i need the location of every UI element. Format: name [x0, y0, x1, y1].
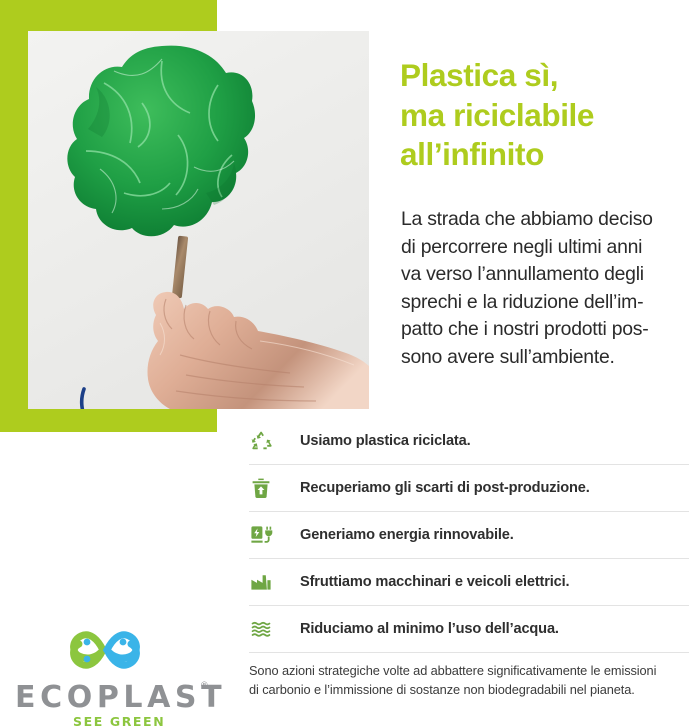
poster-canvas: ,plastica seconda vita Plastica sì, ma r… — [0, 0, 700, 728]
list-item: Riduciamo al minimo l’uso dell’acqua. — [249, 606, 689, 653]
list-item-label: Generiamo energia rinnovabile. — [283, 527, 514, 543]
headline-line-3: all’infinito — [400, 135, 696, 175]
ecoplast-tagline: SEE GREEN — [73, 714, 165, 728]
page-title: Plastica sì, ma riciclabile all’infinito — [400, 56, 696, 175]
footer-line-2: di carbonio e l’immissione di sostanze n… — [249, 681, 700, 700]
psv-circle-arc-icon — [61, 375, 193, 409]
sustainability-actions-list: Usiamo plastica riciclata. Recuperiamo g… — [249, 418, 689, 653]
psv-wordmark: ,plastica — [69, 405, 156, 409]
list-item-label: Usiamo plastica riciclata. — [283, 433, 471, 449]
lead-paragraph: La strada che abbiamo deciso di percorre… — [401, 206, 700, 371]
footer-line-1: Sono azioni strategiche volte ad abbatte… — [249, 662, 700, 681]
lead-line-4: sprechi e la riduzione dell’im- — [401, 289, 700, 317]
lead-line-2: di percorrere negli ultimi anni — [401, 234, 700, 262]
factory-icon — [249, 567, 283, 597]
list-item: Generiamo energia rinnovabile. — [249, 512, 689, 559]
plastic-bag-canopy-illustration — [66, 43, 259, 259]
headline-line-1: Plastica sì, — [400, 56, 696, 96]
hero-photo: ,plastica seconda vita — [28, 31, 369, 409]
ecoplast-wordmark: ECOPLAST — [15, 680, 226, 715]
water-waves-icon — [249, 614, 283, 644]
list-item-label: Riduciamo al minimo l’uso dell’acqua. — [283, 621, 559, 637]
lead-line-1: La strada che abbiamo deciso — [401, 206, 700, 234]
list-item: Usiamo plastica riciclata. — [249, 418, 689, 465]
list-item: Sfruttiamo macchinari e veicoli elettric… — [249, 559, 689, 606]
list-item-label: Sfruttiamo macchinari e veicoli elettric… — [283, 574, 569, 590]
recycle-icon — [249, 426, 283, 456]
plastica-seconda-vita-logo: ,plastica seconda vita — [61, 375, 193, 409]
energy-plug-icon — [249, 520, 283, 550]
butterfly-mark-icon — [67, 624, 143, 676]
footer-note: Sono azioni strategiche volte ad abbatte… — [249, 662, 700, 699]
lead-line-3: va verso l’annullamento degli — [401, 261, 700, 289]
headline-line-2: ma riciclabile — [400, 96, 696, 136]
trash-arrow-up-icon — [249, 473, 283, 503]
lead-line-6: sono avere sull’ambiente. — [401, 344, 700, 372]
registered-mark: ® — [201, 680, 208, 690]
list-item: Recuperiamo gli scarti di post-produzion… — [249, 465, 689, 512]
lead-line-5: patto che i nostri prodotti pos- — [401, 316, 700, 344]
ecoplast-logo: ECOPLAST ® SEE GREEN — [15, 624, 233, 728]
list-item-label: Recuperiamo gli scarti di post-produzion… — [283, 480, 590, 496]
